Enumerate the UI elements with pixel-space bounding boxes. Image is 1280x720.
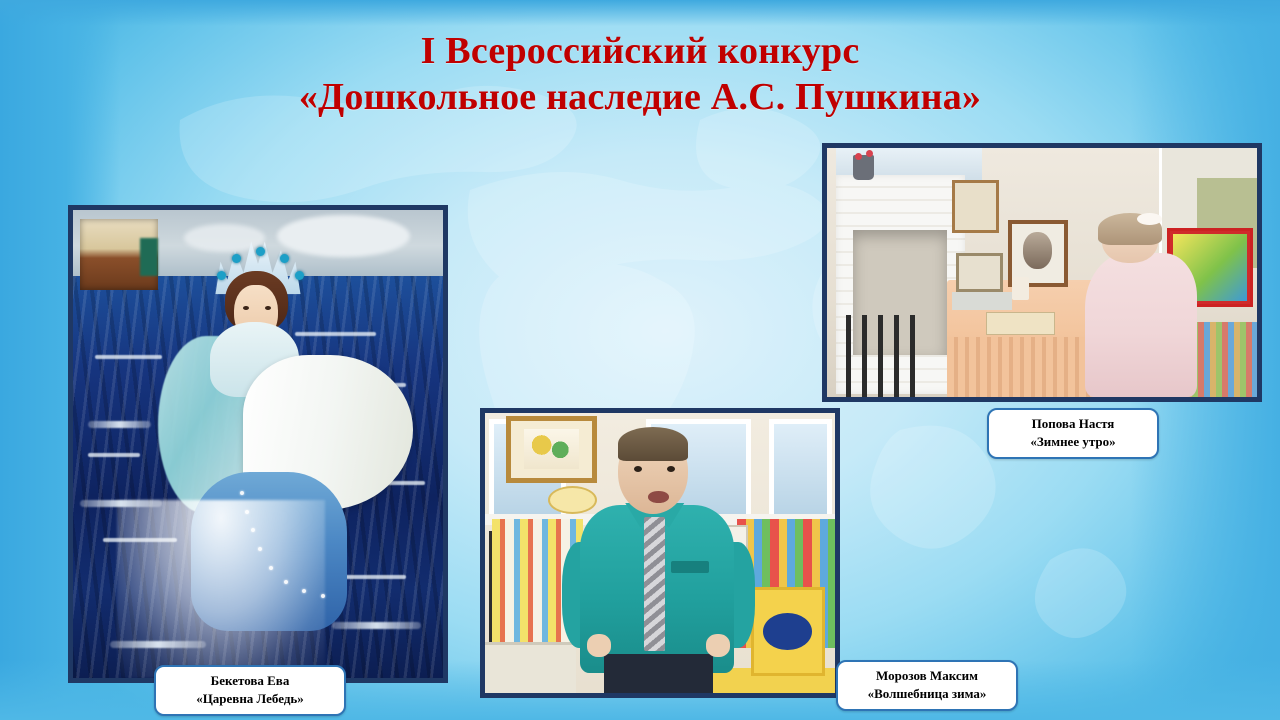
painting-pearl: [284, 580, 288, 584]
painting-pearl: [240, 491, 244, 495]
photo-winter-morning[interactable]: [822, 143, 1262, 402]
painting-wave: [95, 355, 162, 359]
caption-swan-princess: Бекетова Ева «Царевна Лебедь»: [154, 665, 346, 716]
painting-glitter: [110, 641, 206, 648]
candle: [1012, 277, 1029, 299]
poster-art: [524, 429, 579, 469]
room-window: [769, 419, 832, 520]
winter-sorceress-scene: [485, 413, 835, 693]
painting-pearl: [245, 510, 249, 514]
caption-work-title: «Зимнее утро»: [1001, 433, 1145, 451]
painting-pearl: [321, 594, 325, 598]
boy-hand: [706, 634, 731, 656]
table-frill: [947, 337, 1098, 397]
painting-pearl: [269, 566, 273, 570]
caption-work-title: «Царевна Лебедь»: [168, 690, 332, 708]
paper-tray: [485, 642, 576, 693]
boy-hand: [587, 634, 612, 656]
caption-author-name: Морозов Максим: [850, 667, 1004, 685]
swan-princess-artwork: [73, 210, 443, 678]
painting-pearl: [251, 528, 255, 532]
painting-crown-gem: [295, 271, 304, 280]
painting-tulle: [117, 500, 324, 678]
parchment-scroll: [986, 312, 1055, 334]
caption-winter-morning: Попова Настя «Зимнее утро»: [987, 408, 1159, 459]
picture-frame-side: [956, 253, 1003, 293]
winter-morning-scene: [827, 148, 1257, 397]
photo-winter-sorceress[interactable]: [480, 408, 840, 698]
painting-wave: [295, 332, 376, 336]
boy-hair: [618, 427, 688, 461]
slide-title: I Всероссийский конкурс «Дошкольное насл…: [0, 28, 1280, 121]
painting-cloud: [277, 215, 410, 257]
painting-wave: [88, 453, 140, 457]
picture-frame-small: [952, 180, 999, 232]
painting-glitter: [88, 421, 151, 428]
girl-dress: [1085, 253, 1197, 397]
boy-mouth: [648, 491, 669, 502]
presentation-slide: I Всероссийский конкурс «Дошкольное насл…: [0, 0, 1280, 720]
caption-author-name: Попова Настя: [1001, 415, 1145, 433]
painting-cloud: [184, 224, 265, 252]
flower: [855, 153, 862, 160]
pushkin-portrait-face: [1023, 232, 1052, 269]
wall-badge: [548, 486, 597, 514]
photo-swan-princess[interactable]: [68, 205, 448, 683]
fireplace-grate: [846, 315, 923, 397]
painting-glitter: [332, 622, 421, 629]
caption-work-title: «Волшебница зима»: [850, 685, 1004, 703]
title-line-1: I Всероссийский конкурс: [0, 28, 1280, 74]
skazki-book: [751, 587, 825, 677]
caption-winter-sorceress: Морозов Максим «Волшебница зима»: [836, 660, 1018, 711]
striped-tie: [644, 517, 665, 651]
shirt-pocket: [671, 561, 710, 572]
painting-foliage: [140, 238, 159, 275]
boy-eye: [634, 466, 642, 472]
painting-glitter: [80, 500, 161, 507]
skazki-book-label: [763, 613, 812, 650]
table-paper: [952, 292, 1012, 309]
boy-trousers: [604, 654, 713, 693]
title-line-2: «Дошкольное наследие А.С. Пушкина»: [0, 74, 1280, 120]
painting-pearl: [258, 547, 262, 551]
reading-poster: [506, 416, 597, 483]
caption-author-name: Бекетова Ева: [168, 672, 332, 690]
